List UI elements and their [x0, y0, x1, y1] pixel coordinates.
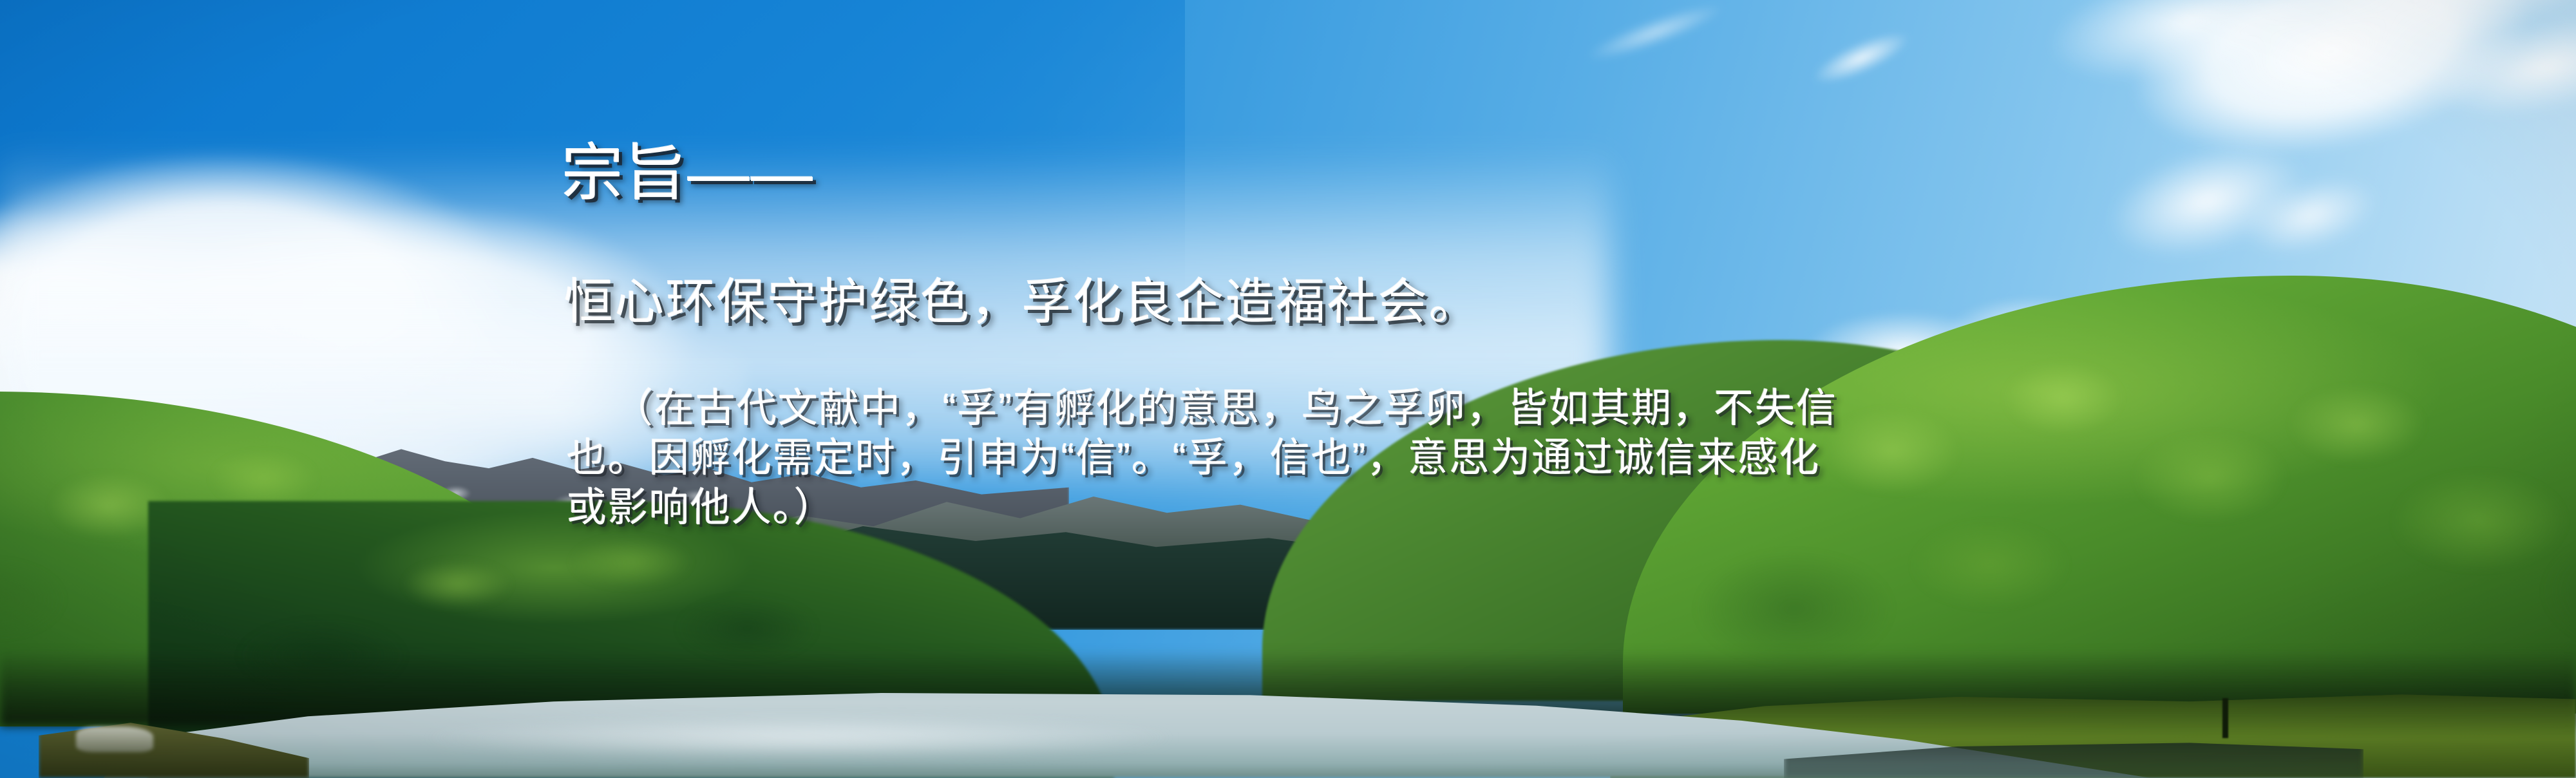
scenic-banner: 宗旨—— 恒心环保守护绿色，孚化良企造福社会。 （在古代文献中，“孚”有孵化的意… — [0, 0, 2576, 778]
banner-text-layer: 宗旨—— 恒心环保守护绿色，孚化良企造福社会。 （在古代文献中，“孚”有孵化的意… — [0, 0, 2576, 778]
banner-subtitle: 恒心环保守护绿色，孚化良企造福社会。 — [564, 278, 1480, 327]
banner-title: 宗旨—— — [562, 143, 814, 205]
banner-paragraph: （在古代文献中，“孚”有孵化的意思，鸟之孚卵，皆如其期，不失信也。因孵化需定时，… — [567, 384, 1855, 533]
